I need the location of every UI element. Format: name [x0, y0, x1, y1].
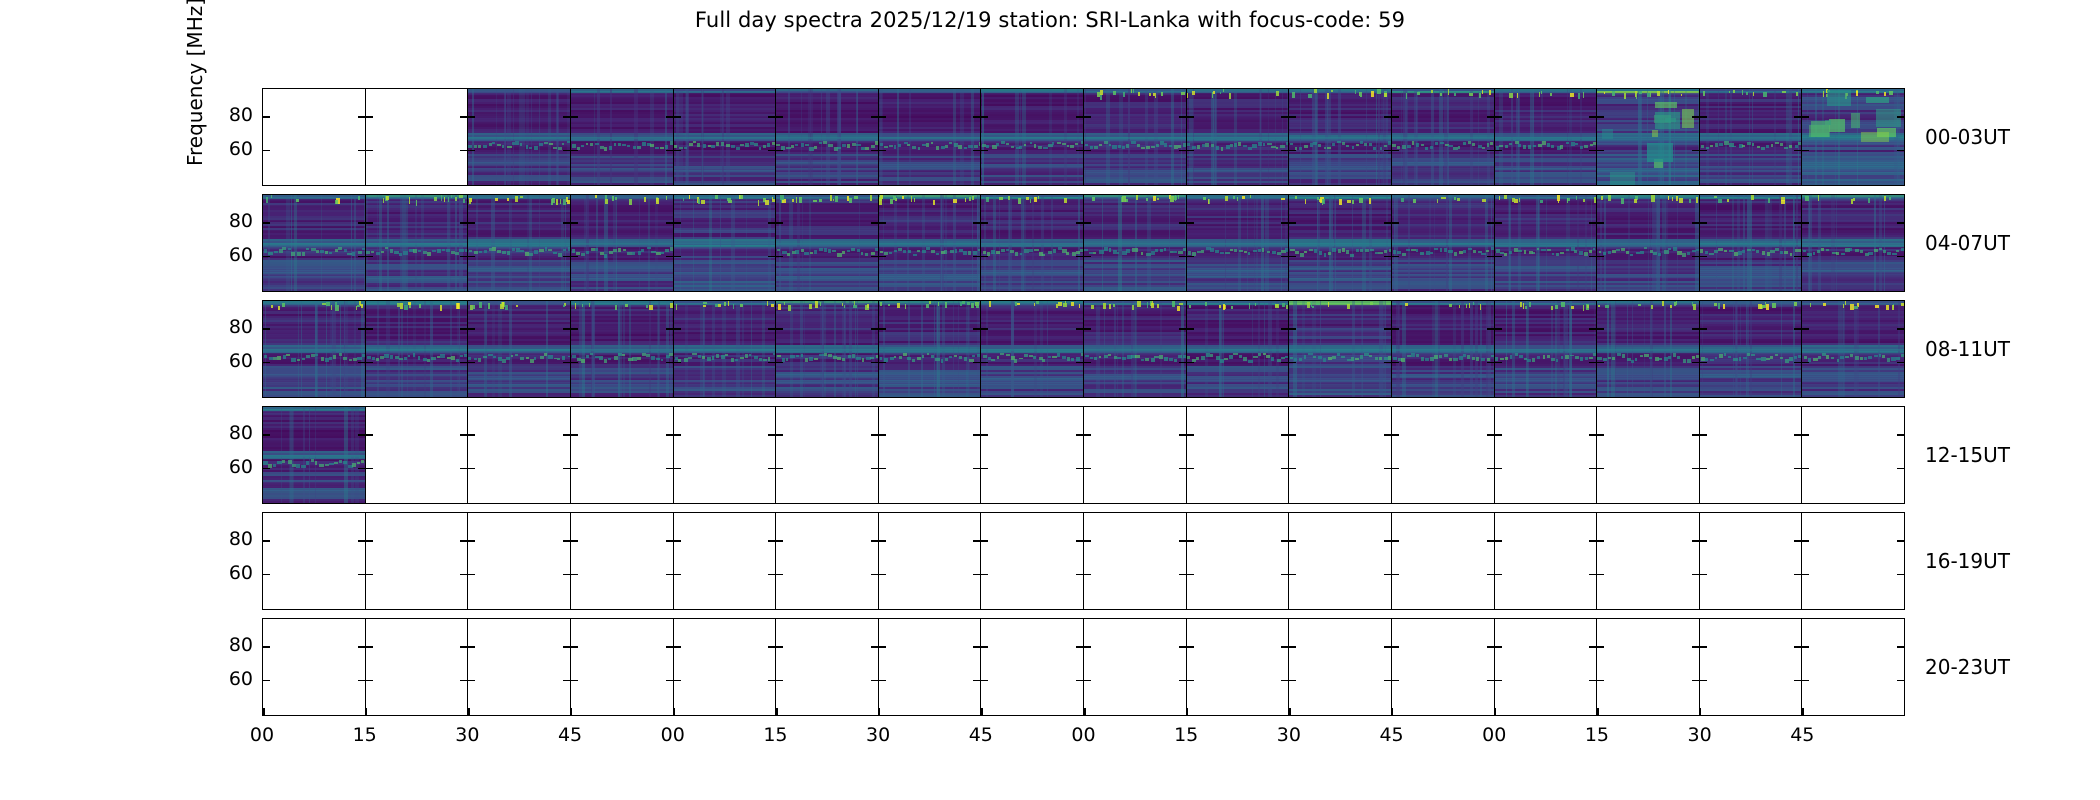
ionospheric-trace-mark	[1444, 354, 1449, 357]
spectra-panel[interactable]	[1597, 89, 1700, 185]
ionospheric-trace-mark	[1108, 354, 1111, 356]
spectrogram-hotspot	[1845, 301, 1847, 305]
ionospheric-trace-mark	[1313, 142, 1317, 144]
spectra-panel[interactable]	[1187, 195, 1290, 291]
spectrogram-hotspot	[440, 305, 443, 311]
y-tick-mark	[1076, 468, 1083, 470]
spectrogram-hotspot	[1153, 196, 1156, 201]
y-tick-mark	[666, 574, 673, 576]
spectrogram-hotspot	[893, 196, 896, 200]
ionospheric-trace-mark	[534, 250, 538, 254]
y-tick-mark	[571, 256, 578, 258]
ionospheric-trace-mark	[1448, 145, 1453, 147]
y-tick-mark	[1281, 362, 1288, 364]
spectrogram-hotspot	[870, 195, 872, 200]
ionospheric-trace-mark	[716, 142, 719, 146]
spectra-panel[interactable]	[1700, 89, 1803, 185]
spectra-panel[interactable]	[981, 89, 1084, 185]
spectra-panel[interactable]	[1392, 407, 1495, 503]
spectrogram-hotspot	[457, 303, 459, 308]
spectra-panel[interactable]	[1289, 619, 1392, 715]
y-tick-mark	[358, 574, 365, 576]
ionospheric-trace-mark	[1024, 354, 1028, 357]
ionospheric-trace-mark	[702, 356, 705, 359]
ionospheric-trace-mark	[544, 142, 547, 145]
spectrogram-hotspot	[1529, 302, 1531, 307]
ionospheric-trace-mark	[302, 358, 305, 360]
y-tick-mark	[468, 150, 475, 152]
spectra-panel[interactable]	[1802, 195, 1904, 291]
ionospheric-trace-mark	[333, 355, 336, 359]
spectra-panel[interactable]	[981, 407, 1084, 503]
ionospheric-trace-mark	[773, 353, 775, 355]
y-tick-mark	[674, 680, 681, 682]
spectra-panel[interactable]	[1802, 513, 1904, 609]
y-tick-mark	[263, 434, 270, 436]
y-tick-mark	[1589, 574, 1596, 576]
spectra-panel[interactable]	[1084, 407, 1187, 503]
ionospheric-trace-mark	[484, 250, 487, 253]
ionospheric-trace-mark	[545, 247, 548, 250]
ionospheric-trace-mark	[1453, 358, 1457, 361]
spectra-panel[interactable]	[1597, 195, 1700, 291]
ionospheric-trace-mark	[385, 247, 389, 250]
spectra-panel[interactable]	[366, 407, 469, 503]
spectra-row	[262, 88, 1905, 186]
ionospheric-trace-mark	[1062, 356, 1066, 359]
spectrogram-hotspot	[1594, 197, 1596, 203]
spectra-panel[interactable]	[674, 301, 777, 397]
row-labels: 00-03UT04-07UT08-11UT12-15UT16-19UT20-23…	[1925, 88, 2100, 716]
spectrogram-hotspot	[1187, 93, 1188, 98]
spectra-panel[interactable]	[1084, 195, 1187, 291]
spectra-panel[interactable]	[776, 195, 879, 291]
ionospheric-trace-mark	[1532, 358, 1535, 362]
spectra-panel[interactable]	[776, 619, 879, 715]
y-tick-mark	[666, 362, 673, 364]
spectra-panel[interactable]	[263, 89, 366, 185]
spectrogram-hotspot	[1413, 199, 1416, 203]
spectra-panel[interactable]	[1700, 407, 1803, 503]
y-tick-mark	[666, 116, 673, 118]
ionospheric-trace-mark	[819, 142, 822, 144]
ionospheric-trace-mark	[852, 354, 855, 358]
y-tick-mark	[871, 150, 878, 152]
ionospheric-trace-mark	[1258, 353, 1262, 356]
spectra-panel[interactable]	[468, 301, 571, 397]
spectra-panel[interactable]	[468, 407, 571, 503]
ionospheric-trace-mark	[408, 355, 411, 357]
spectra-panel[interactable]	[1187, 407, 1290, 503]
y-tick-mark	[973, 540, 980, 542]
ionospheric-trace-mark	[526, 145, 529, 149]
ionospheric-trace-mark	[787, 253, 790, 256]
ionospheric-trace-mark	[871, 252, 875, 255]
ionospheric-trace-mark	[777, 249, 780, 251]
y-tick-mark	[879, 574, 886, 576]
spectrogram-hotspot	[356, 306, 357, 310]
spectrogram-hotspot	[1401, 198, 1404, 202]
spectra-panel[interactable]	[879, 619, 982, 715]
spectra-panel[interactable]	[1084, 513, 1187, 609]
ionospheric-trace-mark	[302, 252, 305, 256]
y-tick-mark	[563, 680, 570, 682]
spectra-panel[interactable]	[1084, 619, 1187, 715]
x-tick-mark	[674, 708, 676, 715]
spectra-panel[interactable]	[1700, 619, 1803, 715]
spectrogram-hotspot	[500, 304, 504, 309]
y-tick-mark	[563, 222, 570, 224]
x-tick-mark	[263, 708, 265, 715]
spectra-panel[interactable]	[1392, 619, 1495, 715]
ionospheric-trace-mark	[1879, 248, 1882, 250]
ionospheric-trace-mark	[320, 250, 324, 253]
ionospheric-trace-mark	[1346, 250, 1349, 254]
spectrogram-hotspot	[1504, 195, 1507, 199]
spectra-panel[interactable]	[776, 513, 879, 609]
spectra-panel[interactable]	[776, 301, 879, 397]
ionospheric-trace-mark	[1057, 353, 1060, 357]
ionospheric-trace-mark	[801, 143, 804, 147]
y-tick-label: 80	[229, 634, 253, 656]
y-tick-mark	[1692, 150, 1699, 152]
spectrogram-hotspot	[1796, 92, 1798, 96]
ionospheric-trace-mark	[1580, 146, 1583, 149]
spectra-panel[interactable]	[1495, 301, 1598, 397]
ionospheric-trace-mark	[1407, 145, 1411, 148]
spectra-panel[interactable]	[1289, 407, 1392, 503]
spectra-panel[interactable]	[879, 407, 982, 503]
y-tick-mark	[1802, 116, 1809, 118]
ionospheric-trace-mark	[362, 248, 365, 250]
ionospheric-trace-mark	[814, 250, 817, 253]
spectra-panel[interactable]	[366, 195, 469, 291]
spectra-panel[interactable]	[1802, 89, 1904, 185]
spectra-panel[interactable]	[981, 513, 1084, 609]
y-tick-mark	[879, 116, 886, 118]
spectra-panel[interactable]	[674, 513, 777, 609]
spectrogram-hotspot	[1448, 89, 1450, 95]
y-tick-mark	[563, 574, 570, 576]
spectrogram-hotspot	[1733, 90, 1735, 93]
spectrogram-hotspot	[1886, 305, 1889, 310]
spectra-panel[interactable]	[263, 407, 366, 503]
spectra-panel[interactable]	[1289, 513, 1392, 609]
spectra-panel[interactable]	[1597, 513, 1700, 609]
spectra-panel[interactable]	[366, 513, 469, 609]
spectra-panel[interactable]	[571, 195, 674, 291]
y-tick-mark	[871, 256, 878, 258]
spectra-panel[interactable]	[981, 301, 1084, 397]
ionospheric-trace-mark	[1537, 248, 1540, 250]
y-tick-mark	[358, 150, 365, 152]
y-tick-mark	[460, 222, 467, 224]
spectra-panel[interactable]	[1289, 301, 1392, 397]
ionospheric-trace-mark	[1155, 249, 1158, 252]
spectrogram-image	[1495, 89, 1597, 185]
ionospheric-trace-mark	[865, 147, 868, 151]
ionospheric-trace-mark	[1406, 249, 1410, 251]
spectra-panel[interactable]	[1392, 513, 1495, 609]
spectra-panel[interactable]	[1187, 513, 1290, 609]
spectrogram-hotspot	[1823, 303, 1825, 306]
ionospheric-trace-mark	[865, 253, 868, 256]
ionospheric-trace-mark	[1757, 146, 1760, 148]
spectra-panel[interactable]	[1700, 301, 1803, 397]
ionospheric-trace-mark	[1042, 254, 1045, 256]
spectrogram-hotspot	[1170, 196, 1174, 202]
spectra-panel[interactable]	[1495, 407, 1598, 503]
ionospheric-trace-mark	[1509, 251, 1513, 254]
spectra-panel[interactable]	[879, 89, 982, 185]
ionospheric-trace-mark	[1006, 354, 1010, 356]
ionospheric-trace-mark	[1230, 144, 1233, 146]
ionospheric-trace-mark	[1324, 253, 1327, 257]
ionospheric-trace-mark	[520, 357, 524, 360]
spectra-panel[interactable]	[1495, 513, 1598, 609]
spectra-panel[interactable]	[263, 195, 366, 291]
spectrogram-hotspot	[1100, 90, 1103, 95]
y-tick-mark	[1281, 256, 1288, 258]
spectra-panel[interactable]	[1392, 301, 1495, 397]
y-tick-mark	[1897, 574, 1904, 576]
spectrogram-image	[468, 195, 570, 291]
spectra-panel[interactable]	[366, 89, 469, 185]
spectrogram-band	[879, 395, 981, 397]
ionospheric-trace-mark	[1030, 142, 1033, 144]
ionospheric-trace-line	[1187, 349, 1289, 351]
spectra-panel[interactable]	[879, 301, 982, 397]
ionospheric-trace-mark	[1579, 251, 1583, 255]
spectra-panel[interactable]	[1597, 301, 1700, 397]
ionospheric-trace-mark	[1263, 143, 1265, 146]
spectra-panel[interactable]	[468, 513, 571, 609]
ionospheric-trace-mark	[515, 354, 518, 356]
ionospheric-trace-mark	[1341, 356, 1344, 359]
y-tick-mark	[674, 222, 681, 224]
spectrogram-hotspot	[1177, 306, 1180, 311]
spectra-panel[interactable]	[674, 407, 777, 503]
ionospheric-trace-mark	[1286, 142, 1288, 145]
y-tick-mark	[776, 150, 783, 152]
ionospheric-trace-mark	[1299, 358, 1302, 361]
spectra-panel[interactable]	[571, 407, 674, 503]
spectra-panel[interactable]	[1802, 301, 1904, 397]
ionospheric-trace-mark	[1761, 147, 1765, 150]
ionospheric-trace-mark	[1327, 147, 1331, 149]
ionospheric-trace-mark	[1770, 250, 1774, 253]
spectrogram-hotspot	[408, 302, 411, 304]
ionospheric-trace-mark	[1281, 357, 1285, 360]
spectrogram-hotspot	[765, 200, 769, 205]
ionospheric-trace-mark	[1505, 145, 1508, 148]
ionospheric-trace-mark	[344, 249, 347, 252]
ionospheric-trace-mark	[725, 354, 728, 357]
spectrogram-hotspot	[1282, 303, 1286, 308]
y-tick-mark	[1076, 328, 1083, 330]
row-label-04-07ut: 04-07UT	[1925, 231, 2010, 255]
spectra-panel[interactable]	[1289, 89, 1392, 185]
spectra-panel[interactable]	[1802, 619, 1904, 715]
spectra-panel[interactable]	[571, 513, 674, 609]
spectra-panel[interactable]	[1597, 619, 1700, 715]
y-tick-mark	[1281, 150, 1288, 152]
spectrogram-image	[1289, 301, 1391, 397]
spectra-panel[interactable]	[1084, 301, 1187, 397]
spectrogram-hotspot	[1097, 92, 1100, 97]
y-tick-mark	[468, 116, 475, 118]
spectra-panel[interactable]	[1289, 195, 1392, 291]
spectra-panel[interactable]	[1700, 195, 1803, 291]
ionospheric-trace-mark	[338, 247, 342, 250]
spectra-panel[interactable]	[674, 195, 777, 291]
spectra-panel[interactable]	[468, 195, 571, 291]
spectra-panel[interactable]	[263, 513, 366, 609]
ionospheric-trace-mark	[907, 357, 910, 360]
y-tick-mark	[768, 362, 775, 364]
y-tick-mark	[1794, 150, 1801, 152]
spectra-panel[interactable]	[981, 195, 1084, 291]
y-tick-mark	[1692, 646, 1699, 648]
spectrogram-hotspot	[1570, 93, 1574, 97]
y-tick-mark	[674, 150, 681, 152]
y-tick-mark	[468, 680, 475, 682]
spectra-panel[interactable]	[981, 619, 1084, 715]
ionospheric-trace-mark	[1164, 143, 1168, 147]
spectrogram-hotspot	[434, 197, 437, 201]
y-tick-mark	[358, 328, 365, 330]
ionospheric-trace-mark	[1412, 141, 1415, 145]
spectra-panel[interactable]	[571, 301, 674, 397]
spectra-panel[interactable]	[1495, 619, 1598, 715]
ionospheric-trace-mark	[1094, 146, 1097, 149]
spectra-panel[interactable]	[776, 89, 879, 185]
ionospheric-trace-mark	[837, 253, 841, 257]
y-tick-mark	[674, 574, 681, 576]
spectrogram-hotspot	[1499, 196, 1500, 201]
spectra-panel[interactable]	[263, 301, 366, 397]
ionospheric-trace-mark	[306, 461, 309, 464]
spectrogram-hotspot	[1242, 196, 1245, 199]
x-tick-label: 00	[1071, 724, 1095, 746]
y-tick-mark	[263, 328, 270, 330]
spectra-panel[interactable]	[1187, 301, 1290, 397]
y-tick-mark	[674, 646, 681, 648]
ionospheric-trace-mark	[824, 353, 827, 355]
spectrogram-hotspot	[459, 195, 463, 198]
spectra-panel[interactable]	[1084, 89, 1187, 185]
spectrogram-hotspot	[1276, 91, 1279, 96]
spectra-panel[interactable]	[1187, 619, 1290, 715]
y-tick-mark	[1692, 116, 1699, 118]
ionospheric-trace-mark	[1747, 249, 1751, 251]
spectra-panel[interactable]	[1802, 407, 1904, 503]
y-tick-mark	[1495, 222, 1502, 224]
spectra-panel[interactable]	[776, 407, 879, 503]
spectra-panel[interactable]	[571, 89, 674, 185]
spectrogram-hotspot	[567, 200, 570, 205]
spectrogram-hotspot	[1866, 97, 1888, 103]
ionospheric-trace-mark	[1201, 356, 1205, 359]
y-tick-mark	[1289, 222, 1296, 224]
spectra-panel[interactable]	[468, 89, 571, 185]
ionospheric-trace-mark	[1575, 356, 1579, 359]
spectrogram-hotspot	[724, 302, 726, 306]
y-tick-mark	[1289, 468, 1296, 470]
y-tick-mark	[460, 256, 467, 258]
spectra-panel[interactable]	[366, 619, 469, 715]
spectra-panel[interactable]	[879, 513, 982, 609]
y-tick-mark	[1692, 256, 1699, 258]
ionospheric-trace-mark	[1011, 146, 1014, 148]
spectra-panel[interactable]	[1495, 195, 1598, 291]
ionospheric-trace-mark	[1248, 252, 1251, 255]
y-tick-mark	[1802, 256, 1809, 258]
spectra-panel[interactable]	[468, 619, 571, 715]
spectra-panel[interactable]	[879, 195, 982, 291]
ionospheric-trace-mark	[1070, 145, 1074, 147]
spectra-panel[interactable]	[263, 619, 366, 715]
spectrogram-hotspot	[1578, 93, 1580, 98]
spectra-panel[interactable]	[1700, 513, 1803, 609]
ionospheric-trace-mark	[534, 146, 537, 150]
y-tick-label: 80	[229, 528, 253, 550]
spectrogram-hotspot	[1469, 93, 1473, 96]
spectrogram-hotspot	[1136, 195, 1139, 200]
ionospheric-trace-line	[1392, 349, 1494, 351]
ionospheric-trace-mark	[376, 358, 379, 362]
spectra-panel[interactable]	[674, 89, 777, 185]
ionospheric-trace-mark	[1491, 247, 1493, 249]
y-tick-mark	[1794, 256, 1801, 258]
spectra-panel[interactable]	[1392, 89, 1495, 185]
spectrogram-hotspot	[589, 303, 590, 307]
y-tick-mark	[871, 540, 878, 542]
ionospheric-trace-mark	[862, 358, 865, 362]
y-tick-mark	[1897, 222, 1904, 224]
spectrogram-hotspot	[469, 199, 471, 204]
ionospheric-trace-mark	[1448, 250, 1452, 253]
y-tick-mark	[263, 116, 270, 118]
spectrogram-hotspot	[1359, 92, 1360, 96]
spectra-panel[interactable]	[1495, 89, 1598, 185]
ionospheric-trace-mark	[1319, 251, 1322, 255]
y-tick-label: 60	[229, 456, 253, 478]
ionospheric-trace-mark	[586, 143, 589, 145]
ionospheric-trace-mark	[1104, 247, 1108, 251]
ionospheric-trace-mark	[474, 358, 477, 360]
spectra-panel[interactable]	[1187, 89, 1290, 185]
spectra-panel[interactable]	[1597, 407, 1700, 503]
y-tick-mark	[1281, 328, 1288, 330]
y-tick-mark	[1384, 646, 1391, 648]
spectra-panel[interactable]	[571, 619, 674, 715]
spectrogram-band	[879, 183, 981, 185]
spectra-panel[interactable]	[674, 619, 777, 715]
ionospheric-trace-mark	[1224, 358, 1227, 361]
ionospheric-trace-mark	[857, 249, 860, 251]
ionospheric-trace-line	[1289, 243, 1391, 245]
ionospheric-trace-line	[776, 349, 878, 351]
ionospheric-trace-mark	[563, 249, 566, 251]
spectrogram-hotspot	[1676, 301, 1678, 305]
ionospheric-trace-mark	[479, 251, 483, 253]
y-tick-mark	[1802, 328, 1809, 330]
spectra-panel[interactable]	[366, 301, 469, 397]
y-tick-mark	[1392, 150, 1399, 152]
ionospheric-trace-mark	[927, 353, 930, 355]
spectra-panel[interactable]	[1392, 195, 1495, 291]
